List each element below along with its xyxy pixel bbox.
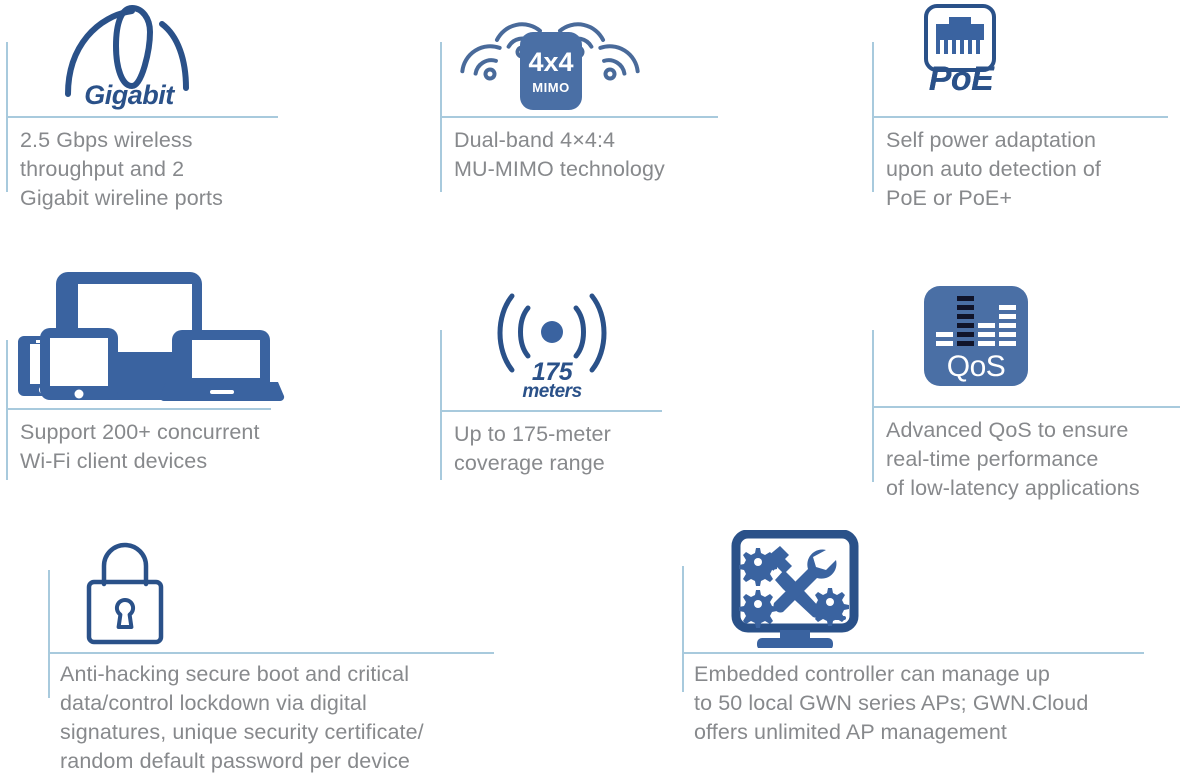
gigabit-caption: Gigabit [54,80,204,111]
feature-cell-poe: PoE Self power adaptation upon auto dete… [872,0,1200,220]
feature-description: Dual-band 4×4:4 MU-MIMO technology [454,126,754,184]
feature-description: Embedded controller can manage up to 50 … [694,660,1184,747]
feature-cell-controller: Embedded controller can manage up to 50 … [682,530,1182,764]
bracket-vertical [682,566,684,692]
mimo-badge: 4x4 MIMO [520,32,582,110]
bracket-horizontal [6,408,271,410]
qos-badge-label: QoS [947,352,1006,382]
mimo-badge-line2: MIMO [532,81,569,94]
bracket-horizontal [48,652,494,654]
poe-caption: PoE [906,60,1016,99]
bracket-vertical [440,330,442,480]
bracket-horizontal [440,116,718,118]
feature-cell-mimo: 4x4 MIMO Dual-band 4×4:4 MU-MIMO technol… [440,0,770,220]
4x4-mimo-badge-icon: 4x4 MIMO [460,0,640,112]
qos-equalizer-badge-icon: QoS [924,286,1054,398]
monitor-tools-controller-icon [730,530,870,648]
feature-infographic: Gigabit 2.5 Gbps wireless throughput and… [0,0,1200,768]
signal-coverage-range-icon: 175 meters [482,286,622,402]
bracket-vertical [6,340,8,480]
feature-description: Anti-hacking secure boot and critical da… [60,660,530,776]
feature-cell-coverage: 175 meters Up to 175-meter coverage rang… [440,270,770,490]
bracket-horizontal [682,652,1144,654]
feature-description: Self power adaptation upon auto detectio… [886,126,1196,213]
padlock-security-icon [80,534,190,646]
feature-description: Support 200+ concurrent Wi-Fi client dev… [20,418,330,476]
coverage-caption-unit: meters [482,382,622,401]
mimo-badge-line1: 4x4 [528,49,573,76]
feature-description: Advanced QoS to ensure real-time perform… [886,416,1200,503]
gigabit-wireless-icon: Gigabit [54,2,204,112]
bracket-vertical [48,570,50,698]
qos-badge: QoS [924,286,1028,386]
bracket-horizontal [6,116,278,118]
feature-cell-qos: QoS Advanced QoS to ensure real-time per… [872,270,1200,500]
bracket-horizontal [440,410,662,412]
feature-description: Up to 175-meter coverage range [454,420,754,478]
bracket-horizontal [872,116,1168,118]
feature-cell-security: Anti-hacking secure boot and critical da… [48,534,528,768]
bracket-horizontal [872,406,1180,408]
poe-ethernet-jack-icon: PoE [912,2,1052,110]
feature-cell-gigabit: Gigabit 2.5 Gbps wireless throughput and… [6,0,336,220]
multi-device-clients-icon [10,270,300,402]
feature-description: 2.5 Gbps wireless throughput and 2 Gigab… [20,126,320,213]
feature-cell-clients: Support 200+ concurrent Wi-Fi client dev… [6,270,336,490]
